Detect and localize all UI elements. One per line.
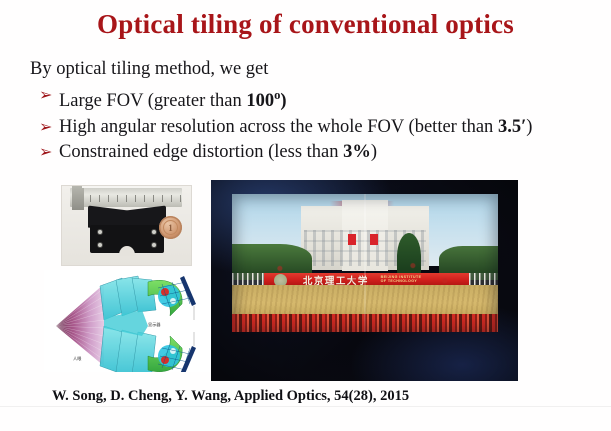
bullet-3-post: )	[371, 142, 377, 162]
prototype-photo: 1	[62, 186, 191, 265]
bullet-2-pre: High angular resolution across the whole…	[59, 117, 498, 137]
screw-icon	[98, 230, 102, 234]
bullet-1-pre: Large FOV (greater than	[59, 91, 246, 111]
bullet-text-1: Large FOV (greater than 100o)	[59, 83, 599, 115]
coin-scale-reference: 1	[159, 216, 182, 239]
page-title: Optical tiling of conventional optics	[0, 9, 611, 40]
eyepiece-photo: 北京理工大学 BEIJING INSTITUTE OF TECHNOLOGY	[211, 180, 518, 381]
list-item: ➢ High angular resolution across the who…	[39, 115, 599, 141]
ray-diagram-svg	[44, 270, 210, 372]
tiling-seam	[364, 194, 366, 332]
screw-icon	[152, 230, 156, 234]
citation-text: W. Song, D. Cheng, Y. Wang, Applied Opti…	[52, 388, 409, 405]
bullet-text-2: High angular resolution across the whole…	[59, 115, 599, 141]
arrow-bullet-icon: ➢	[39, 115, 59, 141]
caliper-icon	[70, 188, 182, 207]
tiled-image-view: 北京理工大学 BEIJING INSTITUTE OF TECHNOLOGY	[232, 194, 498, 332]
bullet-1-post: )	[280, 91, 286, 111]
screw-icon	[98, 243, 102, 247]
bullet-3-value: 3%	[343, 142, 371, 162]
caliper-scale	[90, 195, 182, 202]
list-item: ➢ Large FOV (greater than 100o)	[39, 83, 599, 115]
coin-face-value: 1	[163, 220, 178, 235]
list-item: ➢ Constrained edge distortion (less than…	[39, 140, 599, 166]
diagram-label-eye: 人眼	[73, 356, 81, 362]
bullet-2-post: )	[526, 117, 532, 137]
slide-canvas: Optical tiling of conventional optics By…	[0, 0, 611, 431]
bullet-2-value: 3.5′	[498, 117, 526, 137]
caliper-jaw	[72, 186, 84, 210]
red-flag-right	[370, 234, 378, 245]
bullet-1-value: 100	[246, 91, 274, 111]
screw-icon	[152, 243, 156, 247]
arrow-bullet-icon: ➢	[39, 83, 59, 109]
diagram-label-display: 显示器	[148, 322, 161, 328]
arrow-bullet-icon: ➢	[39, 140, 59, 166]
bullet-text-3: Constrained edge distortion (less than 3…	[59, 140, 599, 166]
lead-text: By optical tiling method, we get	[30, 59, 268, 80]
footer-divider	[0, 406, 611, 407]
bullet-list: ➢ Large FOV (greater than 100o) ➢ High a…	[39, 83, 599, 166]
red-flag-left	[348, 234, 356, 245]
bullet-3-pre: Constrained edge distortion (less than	[59, 142, 343, 162]
prototype-device	[88, 208, 166, 256]
caliper-upper-jaw	[82, 186, 160, 188]
optical-ray-diagram: 人眼 显示器	[44, 270, 210, 372]
